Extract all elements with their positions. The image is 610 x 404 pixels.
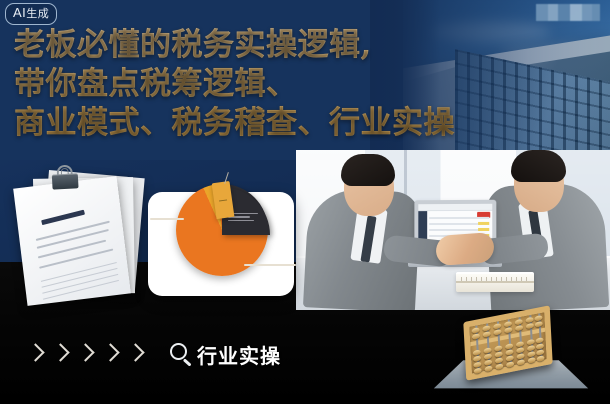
- mosaic-watermark: [536, 4, 600, 21]
- pie-leader-line: [244, 264, 296, 266]
- headline-line-1: 老板必懂的税务实操逻辑,: [14, 26, 600, 65]
- person-right-hair: [511, 150, 566, 182]
- handshake-business-photo: [296, 150, 610, 310]
- pie-leader-line: [150, 218, 184, 220]
- chevron-right-icon: [78, 344, 91, 364]
- chevron-right-icon: [53, 344, 66, 364]
- person-left-hair: [341, 154, 395, 186]
- pie-chart-card: [148, 192, 294, 296]
- pie-chart: [176, 184, 268, 276]
- document-sheet: [13, 176, 131, 306]
- magnifier-icon: [168, 342, 194, 368]
- document-title-bar: [41, 210, 85, 225]
- search-tag-group: 行业实操: [168, 340, 281, 369]
- ai-badge-prefix: AI: [13, 5, 26, 20]
- ai-generated-badge: AI生成: [5, 3, 57, 25]
- document-stack: [6, 168, 146, 300]
- chevron-right-icon: [128, 344, 141, 364]
- search-tag-label: 行业实操: [197, 340, 281, 369]
- chevron-right-icon: [28, 344, 41, 364]
- headline-line-3: 商业模式、税务稽查、行业实操: [14, 104, 600, 143]
- poster-canvas: AI生成 老板必懂的税务实操逻辑, 带你盘点税筹逻辑、 商业模式、税务稽查、行业…: [0, 0, 610, 404]
- chevron-right-icon: [103, 344, 116, 364]
- binder-clip-icon: [49, 165, 80, 191]
- headline-line-2: 带你盘点税筹逻辑、: [14, 65, 600, 104]
- handshake: [435, 232, 495, 266]
- page-title: 老板必懂的税务实操逻辑, 带你盘点税筹逻辑、 商业模式、税务稽查、行业实操: [14, 26, 600, 143]
- open-notebook: [456, 272, 534, 292]
- ai-badge-label: 生成: [26, 8, 49, 20]
- chevron-group: [28, 344, 141, 364]
- bottom-bar: 行业实操: [0, 332, 610, 404]
